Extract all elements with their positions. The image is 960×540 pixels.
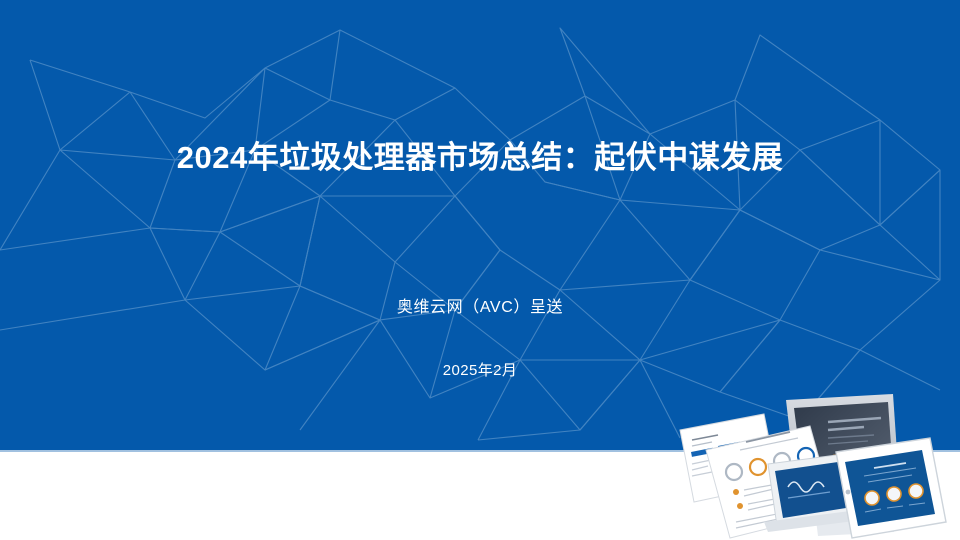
tablet-mockup xyxy=(836,438,946,538)
slide-cover: 2024年垃圾处理器市场总结：起伏中谋发展 奥维云网（AVC）呈送 2025年2… xyxy=(0,0,960,540)
presenter-line: 奥维云网（AVC）呈送 xyxy=(0,297,960,319)
device-document-collage xyxy=(678,392,960,540)
collage-illustration xyxy=(678,392,960,540)
page-title: 2024年垃圾处理器市场总结：起伏中谋发展 xyxy=(0,138,960,178)
polygon-mesh-decoration xyxy=(0,0,960,450)
publication-date: 2025年2月 xyxy=(0,360,960,382)
hero-background: 2024年垃圾处理器市场总结：起伏中谋发展 奥维云网（AVC）呈送 2025年2… xyxy=(0,0,960,450)
